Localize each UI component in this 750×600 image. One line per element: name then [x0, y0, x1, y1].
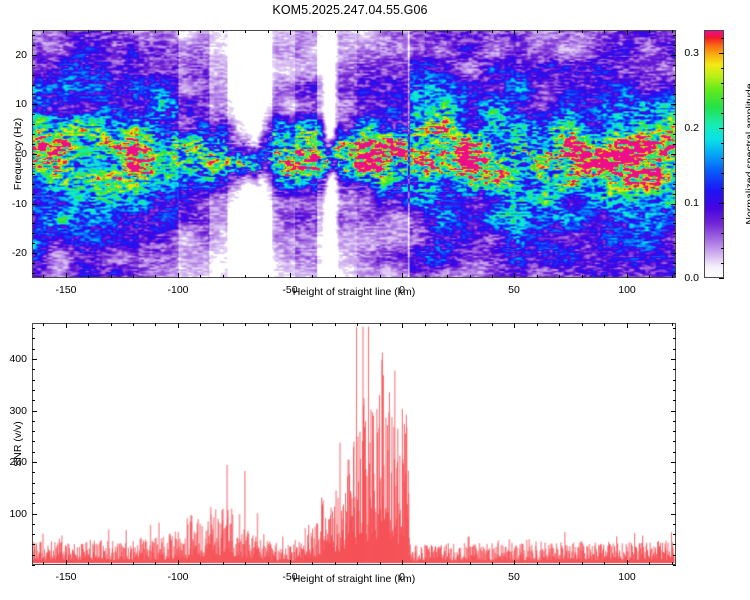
- x-tick-minor: [559, 562, 560, 565]
- x-tick-major-top: [178, 30, 179, 35]
- y-tick-minor: [32, 214, 35, 215]
- colorbar-tick-minor: [721, 143, 724, 144]
- y-tick-minor: [32, 233, 35, 234]
- y-tick-minor: [32, 134, 35, 135]
- x-tick-minor-top: [447, 323, 448, 326]
- x-tick-major: [66, 560, 67, 565]
- y-tick-minor-right: [673, 503, 676, 504]
- y-tick-minor-right: [673, 94, 676, 95]
- y-tick-minor-right: [673, 45, 676, 46]
- y-tick-minor-right: [673, 431, 676, 432]
- y-tick-minor-right: [673, 472, 676, 473]
- y-tick-minor: [32, 124, 35, 125]
- y-tick-minor-right: [673, 134, 676, 135]
- x-tick-minor: [88, 562, 89, 565]
- x-tick-minor-top: [88, 323, 89, 326]
- y-tick-minor-right: [673, 452, 676, 453]
- y-tick-minor: [32, 421, 35, 422]
- x-tick-major-top: [402, 30, 403, 35]
- x-tick-minor: [155, 275, 156, 278]
- x-tick-minor-top: [380, 30, 381, 33]
- y-tick-minor-right: [673, 565, 676, 566]
- x-tick-minor-top: [223, 323, 224, 326]
- x-tick-minor-top: [111, 30, 112, 33]
- y-tick-minor-right: [673, 85, 676, 86]
- x-tick-minor: [380, 562, 381, 565]
- x-tick-minor-top: [357, 323, 358, 326]
- y-tick-major-right: [671, 514, 676, 515]
- x-tick-minor: [380, 275, 381, 278]
- x-tick-minor: [447, 275, 448, 278]
- x-tick-major: [178, 273, 179, 278]
- y-tick-minor: [32, 263, 35, 264]
- colorbar-tick-minor: [721, 233, 724, 234]
- colorbar-tick-minor: [721, 38, 724, 39]
- y-tick-major: [32, 411, 37, 412]
- spectrogram-x-axis-title: Height of straight line (km): [293, 286, 416, 298]
- y-tick-minor-right: [673, 441, 676, 442]
- x-tick-minor-top: [200, 323, 201, 326]
- x-tick-minor: [155, 562, 156, 565]
- y-tick-label: 400: [2, 353, 27, 365]
- colorbar-tick-label: 0.0: [670, 272, 699, 284]
- y-tick-minor: [32, 544, 35, 545]
- colorbar-tick-minor: [721, 113, 724, 114]
- colorbar-tick-minor: [721, 248, 724, 249]
- x-tick-minor: [425, 562, 426, 565]
- x-tick-label: -100: [167, 571, 188, 583]
- colorbar-tick-minor: [721, 98, 724, 99]
- x-tick-minor: [357, 275, 358, 278]
- x-tick-minor: [223, 275, 224, 278]
- x-tick-major-top: [514, 30, 515, 35]
- x-tick-minor: [312, 562, 313, 565]
- y-tick-major: [32, 462, 37, 463]
- x-tick-major: [178, 560, 179, 565]
- y-tick-major: [32, 154, 37, 155]
- x-tick-minor: [447, 562, 448, 565]
- x-tick-major-top: [627, 30, 628, 35]
- figure-canvas: KOM5.2025.247.04.55.G06 -150-100-5005010…: [0, 0, 750, 600]
- x-tick-minor: [470, 275, 471, 278]
- x-tick-minor: [268, 275, 269, 278]
- colorbar-tick: [719, 128, 724, 129]
- x-tick-minor-top: [200, 30, 201, 33]
- x-tick-minor-top: [537, 30, 538, 33]
- colorbar-title: Normalized spectral amplitude: [744, 83, 750, 224]
- x-tick-minor-top: [335, 323, 336, 326]
- x-tick-minor-top: [133, 30, 134, 33]
- x-tick-minor-top: [559, 30, 560, 33]
- y-tick-label: 300: [2, 405, 27, 417]
- colorbar-tick-minor: [721, 263, 724, 264]
- colorbar-tick: [719, 278, 724, 279]
- x-tick-major-top: [290, 323, 291, 328]
- x-tick-major: [627, 560, 628, 565]
- x-tick-minor: [200, 562, 201, 565]
- x-tick-minor-top: [604, 30, 605, 33]
- spectrogram-image: [33, 31, 675, 277]
- y-tick-minor: [32, 65, 35, 66]
- x-tick-minor: [604, 562, 605, 565]
- x-tick-major: [627, 273, 628, 278]
- y-tick-minor-right: [673, 114, 676, 115]
- y-tick-minor: [32, 75, 35, 76]
- y-tick-minor: [32, 431, 35, 432]
- x-tick-minor-top: [604, 323, 605, 326]
- x-tick-minor: [537, 275, 538, 278]
- x-tick-label: -150: [55, 571, 76, 583]
- x-tick-minor: [492, 275, 493, 278]
- colorbar-tick-minor: [721, 83, 724, 84]
- y-tick-minor: [32, 534, 35, 535]
- y-tick-minor-right: [673, 534, 676, 535]
- y-tick-minor: [32, 441, 35, 442]
- y-tick-minor-right: [673, 263, 676, 264]
- snr-x-axis-title: Height of straight line (km): [293, 573, 416, 585]
- y-tick-minor-right: [673, 214, 676, 215]
- y-tick-major: [32, 253, 37, 254]
- spectrogram-axes: [32, 30, 676, 278]
- y-tick-minor: [32, 273, 35, 274]
- y-tick-minor: [32, 223, 35, 224]
- colorbar-tick-minor: [721, 173, 724, 174]
- x-tick-label: -100: [167, 284, 188, 296]
- x-tick-major-top: [402, 323, 403, 328]
- snr-plot-area: [33, 324, 675, 564]
- x-tick-minor-top: [537, 323, 538, 326]
- y-tick-minor-right: [673, 174, 676, 175]
- x-tick-major: [402, 560, 403, 565]
- x-tick-minor: [111, 275, 112, 278]
- x-tick-major-top: [290, 30, 291, 35]
- y-tick-major: [32, 359, 37, 360]
- colorbar-tick-label: 0.1: [670, 197, 699, 209]
- y-tick-minor: [32, 380, 35, 381]
- x-tick-minor: [470, 562, 471, 565]
- y-tick-minor-right: [673, 35, 676, 36]
- y-tick-minor-right: [673, 243, 676, 244]
- y-tick-minor: [32, 338, 35, 339]
- x-tick-minor-top: [312, 30, 313, 33]
- y-tick-minor-right: [673, 493, 676, 494]
- y-tick-major-right: [671, 154, 676, 155]
- y-tick-major: [32, 514, 37, 515]
- y-tick-minor-right: [673, 390, 676, 391]
- x-tick-minor-top: [155, 323, 156, 326]
- y-tick-major: [32, 55, 37, 56]
- y-tick-minor-right: [673, 184, 676, 185]
- y-tick-minor-right: [673, 144, 676, 145]
- x-tick-minor: [111, 562, 112, 565]
- x-tick-label: 100: [618, 284, 636, 296]
- y-tick-minor-right: [673, 483, 676, 484]
- x-tick-minor-top: [245, 323, 246, 326]
- y-tick-minor: [32, 349, 35, 350]
- x-tick-minor-top: [447, 30, 448, 33]
- y-tick-minor-right: [673, 400, 676, 401]
- x-tick-minor: [649, 275, 650, 278]
- x-tick-minor-top: [380, 323, 381, 326]
- y-tick-label: 100: [2, 508, 27, 520]
- x-tick-minor-top: [155, 30, 156, 33]
- x-tick-major-top: [514, 323, 515, 328]
- y-tick-major-right: [671, 104, 676, 105]
- y-tick-minor: [32, 472, 35, 473]
- y-tick-minor: [32, 144, 35, 145]
- y-tick-minor: [32, 45, 35, 46]
- x-tick-major: [514, 560, 515, 565]
- y-tick-minor-right: [673, 233, 676, 234]
- x-tick-minor-top: [223, 30, 224, 33]
- figure-title: KOM5.2025.247.04.55.G06: [0, 3, 700, 17]
- y-tick-minor: [32, 400, 35, 401]
- x-tick-major: [514, 273, 515, 278]
- x-tick-minor: [604, 275, 605, 278]
- y-tick-major-right: [671, 462, 676, 463]
- x-tick-major: [290, 560, 291, 565]
- x-tick-minor-top: [133, 323, 134, 326]
- x-tick-minor-top: [559, 323, 560, 326]
- x-tick-minor-top: [312, 323, 313, 326]
- y-tick-minor: [32, 328, 35, 329]
- x-tick-minor: [200, 275, 201, 278]
- x-tick-minor: [582, 275, 583, 278]
- x-tick-major: [66, 273, 67, 278]
- x-tick-minor: [559, 275, 560, 278]
- y-tick-label: -10: [2, 198, 27, 210]
- y-tick-minor-right: [673, 421, 676, 422]
- x-tick-minor-top: [245, 30, 246, 33]
- x-tick-minor-top: [425, 30, 426, 33]
- y-tick-minor: [32, 174, 35, 175]
- x-tick-minor-top: [672, 30, 673, 33]
- colorbar-tick-minor: [721, 158, 724, 159]
- y-tick-minor-right: [673, 65, 676, 66]
- y-tick-minor-right: [673, 164, 676, 165]
- x-tick-minor: [335, 275, 336, 278]
- x-tick-minor-top: [492, 323, 493, 326]
- x-tick-minor-top: [43, 323, 44, 326]
- y-tick-minor: [32, 243, 35, 244]
- colorbar-tick: [719, 203, 724, 204]
- y-tick-minor: [32, 565, 35, 566]
- y-tick-minor-right: [673, 349, 676, 350]
- y-tick-major: [32, 204, 37, 205]
- y-tick-minor: [32, 94, 35, 95]
- x-tick-major: [290, 273, 291, 278]
- x-tick-label: 50: [508, 571, 520, 583]
- y-tick-minor: [32, 184, 35, 185]
- y-tick-major-right: [671, 359, 676, 360]
- x-tick-minor: [43, 275, 44, 278]
- spectrogram-y-axis-title: Frequency (Hz): [12, 118, 24, 190]
- x-tick-minor-top: [425, 323, 426, 326]
- x-tick-major-top: [178, 323, 179, 328]
- y-tick-minor: [32, 35, 35, 36]
- x-tick-minor: [537, 562, 538, 565]
- x-tick-minor-top: [268, 323, 269, 326]
- x-tick-minor: [582, 562, 583, 565]
- x-tick-major-top: [66, 30, 67, 35]
- colorbar-tick-label: 0.2: [670, 122, 699, 134]
- x-tick-minor-top: [470, 30, 471, 33]
- x-tick-label: 50: [508, 284, 520, 296]
- colorbar-tick-label: 0.3: [670, 47, 699, 59]
- x-tick-minor: [245, 275, 246, 278]
- colorbar-tick-minor: [721, 218, 724, 219]
- x-tick-minor-top: [111, 323, 112, 326]
- x-tick-minor-top: [335, 30, 336, 33]
- x-tick-minor-top: [43, 30, 44, 33]
- x-tick-minor: [335, 562, 336, 565]
- x-tick-minor: [133, 562, 134, 565]
- x-tick-minor: [492, 562, 493, 565]
- x-tick-minor-top: [672, 323, 673, 326]
- y-tick-major-right: [671, 253, 676, 254]
- x-tick-minor: [223, 562, 224, 565]
- y-tick-label: 10: [2, 98, 27, 110]
- x-tick-label: -150: [55, 284, 76, 296]
- x-tick-major-top: [66, 323, 67, 328]
- y-tick-minor-right: [673, 328, 676, 329]
- y-tick-minor: [32, 390, 35, 391]
- x-tick-major-top: [627, 323, 628, 328]
- x-tick-minor-top: [649, 323, 650, 326]
- x-tick-minor: [88, 275, 89, 278]
- colorbar-tick-minor: [721, 188, 724, 189]
- y-tick-minor: [32, 555, 35, 556]
- y-tick-minor-right: [673, 524, 676, 525]
- x-tick-minor-top: [582, 323, 583, 326]
- x-tick-minor-top: [649, 30, 650, 33]
- y-tick-minor: [32, 194, 35, 195]
- x-tick-minor: [43, 562, 44, 565]
- spectrogram-plot-area: [33, 31, 675, 277]
- x-tick-minor-top: [492, 30, 493, 33]
- y-tick-minor: [32, 114, 35, 115]
- x-tick-minor: [133, 275, 134, 278]
- x-tick-minor: [425, 275, 426, 278]
- x-tick-minor-top: [470, 323, 471, 326]
- x-tick-major: [402, 273, 403, 278]
- x-tick-minor-top: [88, 30, 89, 33]
- y-tick-minor-right: [673, 555, 676, 556]
- x-tick-minor-top: [582, 30, 583, 33]
- y-tick-minor: [32, 452, 35, 453]
- snr-y-axis-title: SNR (v/v): [12, 421, 24, 467]
- y-tick-minor-right: [673, 544, 676, 545]
- x-tick-minor: [268, 562, 269, 565]
- colorbar-tick: [719, 53, 724, 54]
- y-tick-minor-right: [673, 194, 676, 195]
- y-tick-minor: [32, 369, 35, 370]
- y-tick-minor: [32, 524, 35, 525]
- x-tick-minor-top: [268, 30, 269, 33]
- y-tick-minor-right: [673, 223, 676, 224]
- x-tick-minor: [312, 275, 313, 278]
- y-tick-minor-right: [673, 369, 676, 370]
- y-tick-label: -20: [2, 247, 27, 259]
- x-tick-minor-top: [357, 30, 358, 33]
- colorbar-tick-minor: [721, 68, 724, 69]
- snr-line-series: [33, 324, 675, 564]
- x-tick-minor: [357, 562, 358, 565]
- y-tick-minor-right: [673, 380, 676, 381]
- y-tick-label: 20: [2, 49, 27, 61]
- y-tick-minor-right: [673, 75, 676, 76]
- y-tick-major-right: [671, 411, 676, 412]
- y-tick-minor: [32, 164, 35, 165]
- x-tick-minor: [245, 562, 246, 565]
- y-tick-minor: [32, 483, 35, 484]
- x-tick-label: 100: [618, 571, 636, 583]
- y-tick-minor-right: [673, 338, 676, 339]
- y-tick-minor: [32, 503, 35, 504]
- y-tick-major: [32, 104, 37, 105]
- y-tick-minor: [32, 493, 35, 494]
- y-tick-minor: [32, 85, 35, 86]
- snr-axes: [32, 323, 676, 565]
- x-tick-minor: [649, 562, 650, 565]
